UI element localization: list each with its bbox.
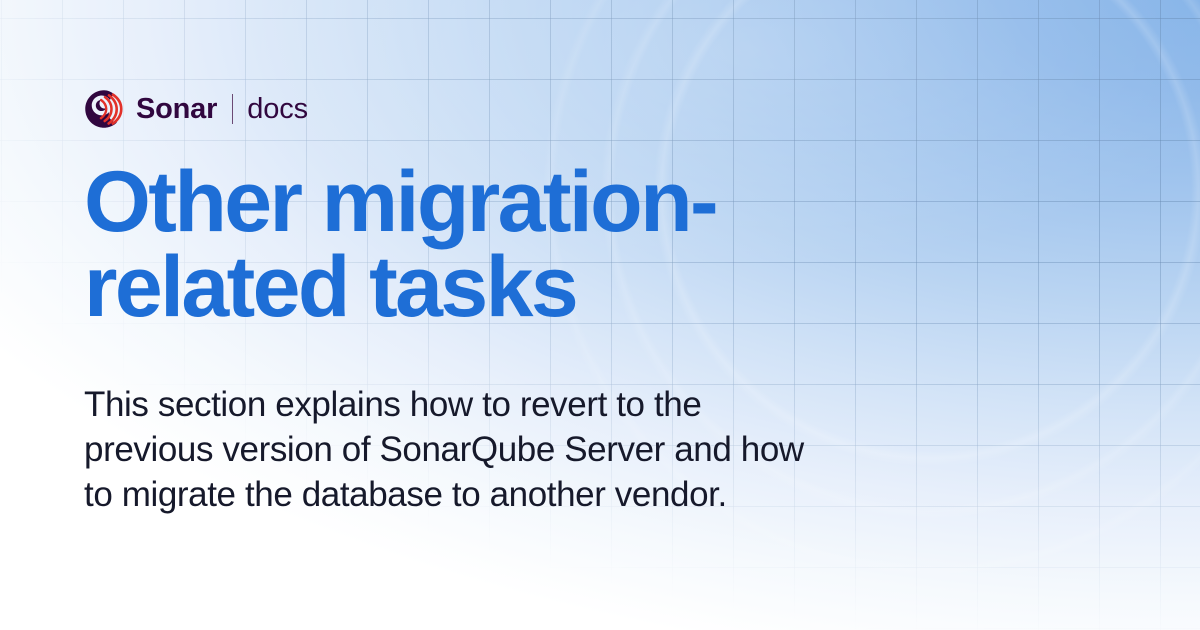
card-content: Sonar docs Other migration-related tasks… — [84, 0, 1114, 630]
brand-wordmark: Sonar — [136, 95, 217, 124]
page-title: Other migration-related tasks — [84, 160, 884, 330]
sonar-logo-icon — [84, 89, 124, 129]
brand-section-label: docs — [247, 95, 308, 124]
page-description: This section explains how to revert to t… — [84, 383, 824, 517]
brand-lockup[interactable]: Sonar docs — [84, 86, 308, 132]
brand-divider — [232, 94, 233, 124]
social-share-card: Sonar docs Other migration-related tasks… — [0, 0, 1200, 630]
